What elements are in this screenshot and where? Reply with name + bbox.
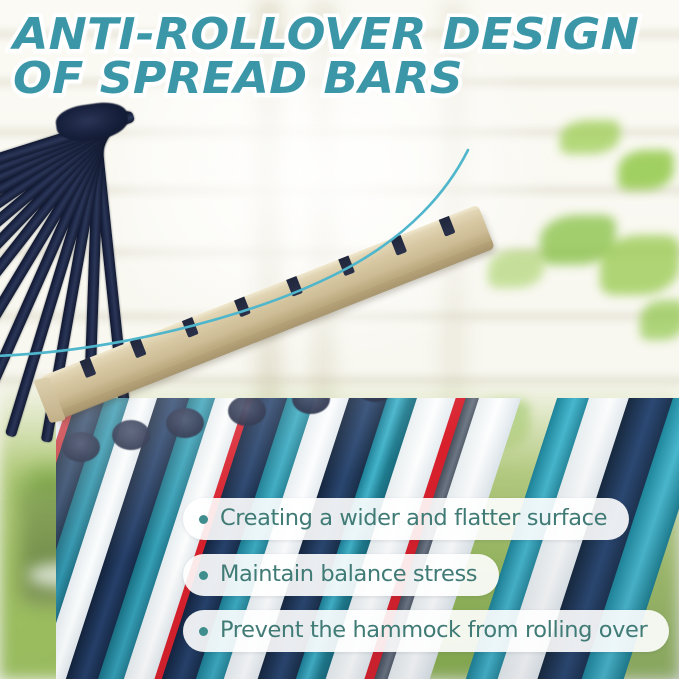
rope-knot	[54, 99, 130, 145]
headline-line-1: ANTI-ROLLOVER DESIGN	[13, 13, 637, 57]
list-item: Creating a wider and flatter surface	[183, 498, 629, 540]
page-title: ANTI-ROLLOVER DESIGN OF SPREAD BARS	[13, 13, 613, 101]
bullet-text: Creating a wider and flatter surface	[220, 505, 607, 531]
list-item: Prevent the hammock from rolling over	[183, 610, 669, 652]
bullet-text: Prevent the hammock from rolling over	[220, 617, 647, 643]
bullet-dot-icon	[199, 515, 208, 524]
list-item: Maintain balance stress	[183, 554, 499, 596]
bullet-text: Maintain balance stress	[220, 561, 477, 587]
headline-line-2: OF SPREAD BARS	[13, 57, 637, 101]
bullet-dot-icon	[199, 627, 208, 636]
bullet-dot-icon	[199, 571, 208, 580]
product-feature-image: ANTI-ROLLOVER DESIGN OF SPREAD BARS Crea…	[0, 0, 679, 679]
feature-bullet-list: Creating a wider and flatter surface Mai…	[183, 498, 679, 666]
